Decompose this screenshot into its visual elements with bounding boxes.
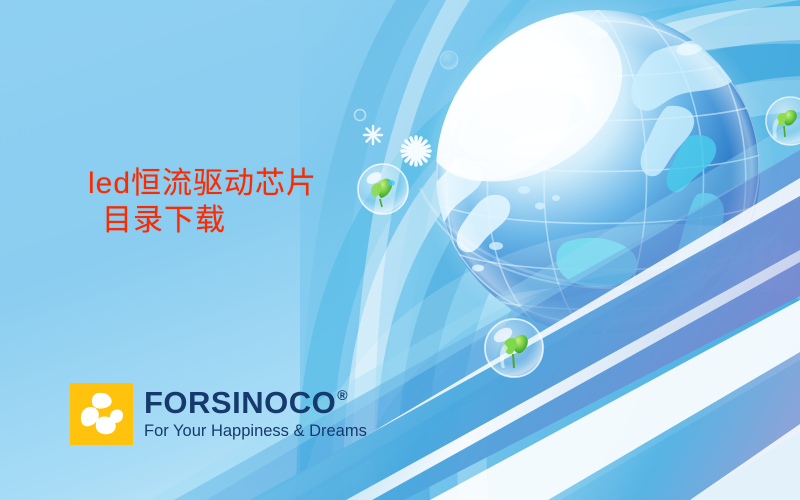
banner-canvas: led恒流驱动芯片 目录下载 FORSINOCO — [0, 0, 800, 500]
brand-logo: FORSINOCO ® For Your Happiness & Dreams — [70, 383, 367, 445]
logo-wordmark-text: FORSINOCO — [144, 387, 336, 418]
four-petal-pinwheel-icon — [70, 383, 133, 445]
headline-line-2: 目录下载 — [102, 203, 317, 240]
headline-text: led恒流驱动芯片 目录下载 — [88, 166, 317, 239]
headline-line-1: led恒流驱动芯片 — [88, 167, 317, 200]
logo-wordmark: FORSINOCO ® — [144, 387, 367, 418]
logo-tagline: For Your Happiness & Dreams — [144, 422, 367, 440]
registered-trademark-symbol: ® — [337, 388, 348, 402]
logo-text-block: FORSINOCO ® For Your Happiness & Dreams — [144, 387, 367, 440]
